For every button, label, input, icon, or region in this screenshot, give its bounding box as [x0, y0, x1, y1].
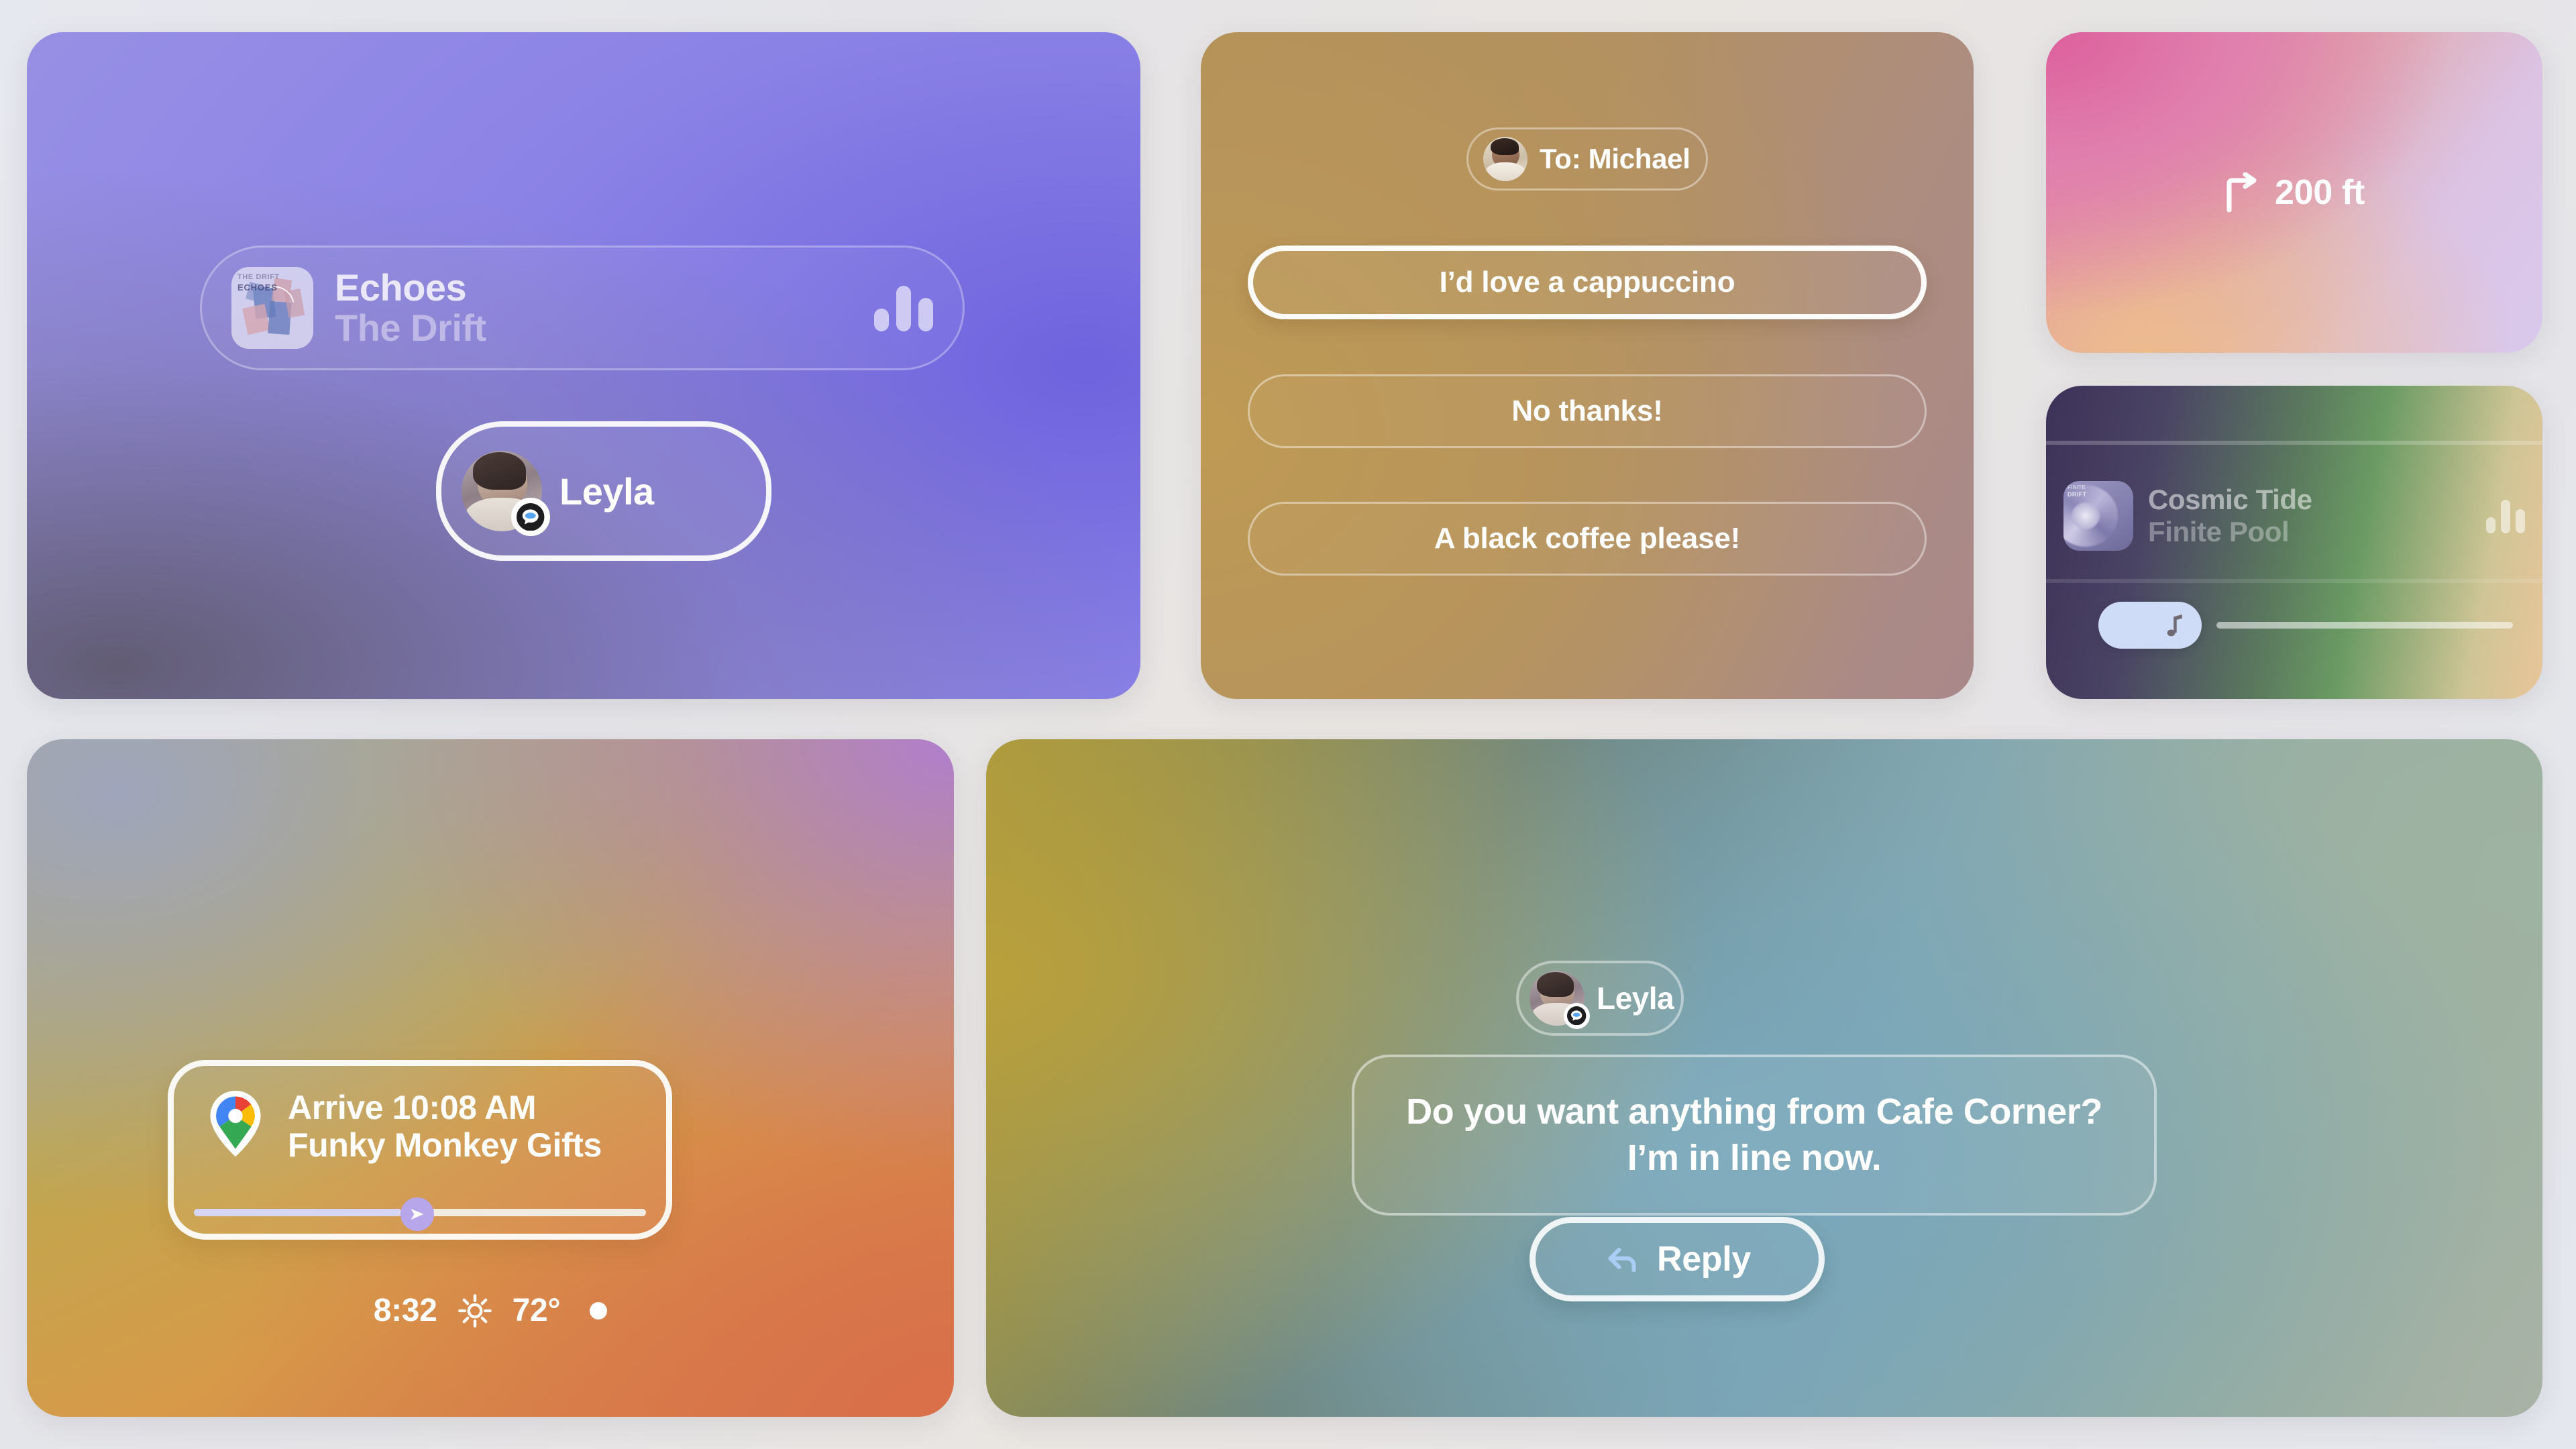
album-art-label: FINITE DRIFT: [2068, 484, 2087, 498]
avatar-michael: [1483, 137, 1527, 181]
album-art: THE DRIFT ECHOES: [231, 267, 313, 349]
track-title: Cosmic Tide: [2148, 484, 2486, 515]
card-maps-arrival[interactable]: Arrive 10:08 AM Funky Monkey Gifts 8:32: [27, 739, 954, 1417]
smart-reply-option-2-label: A black coffee please!: [1434, 522, 1740, 555]
reply-button[interactable]: Reply: [1529, 1217, 1825, 1301]
album-art-line2: ECHOES: [237, 282, 280, 293]
arrival-eta: Arrive 10:08 AM: [288, 1089, 602, 1126]
message-bubble[interactable]: Do you want anything from Cafe Corner? I…: [1352, 1055, 2157, 1216]
message-text: Do you want anything from Cafe Corner? I…: [1391, 1089, 2118, 1181]
messages-badge-icon: [511, 498, 550, 537]
reply-button-label: Reply: [1657, 1239, 1751, 1279]
smart-reply-option-2[interactable]: A black coffee please!: [1248, 502, 1927, 576]
recipient-pill[interactable]: To: Michael: [1466, 127, 1708, 191]
sun-icon: [458, 1293, 492, 1328]
card-smart-reply-surface: To: Michael I’d love a cappuccino No tha…: [1201, 32, 1974, 699]
equalizer-icon: [874, 284, 933, 331]
playback-progress-bar[interactable]: [2216, 622, 2513, 629]
messages-badge-icon: [1564, 1003, 1590, 1029]
contact-name: Leyla: [559, 470, 654, 513]
transport-row: [2098, 602, 2513, 649]
track-artist: Finite Pool: [2148, 516, 2486, 547]
track-meta: Echoes The Drift: [335, 268, 861, 349]
album-art-line1: THE DRIFT: [237, 273, 280, 282]
music-pill[interactable]: [2098, 602, 2202, 649]
album-art-line1: FINITE: [2068, 484, 2087, 491]
google-maps-pin-icon: [201, 1089, 270, 1159]
track-title: Echoes: [335, 268, 861, 307]
arrival-header: Arrive 10:08 AM Funky Monkey Gifts: [201, 1089, 639, 1165]
sheen-line-top: [2046, 441, 2542, 445]
smart-reply-option-0-label: I’d love a cappuccino: [1440, 266, 1735, 299]
smart-reply-option-1[interactable]: No thanks!: [1248, 374, 1927, 448]
card-message-surface: Leyla Do you want anything from Cafe Cor…: [986, 739, 2542, 1417]
route-progress-remaining: [425, 1209, 646, 1216]
card-music-cosmic[interactable]: FINITE DRIFT Cosmic Tide Finite Pool: [2046, 386, 2542, 699]
turn-instruction: 200 ft: [2046, 32, 2542, 353]
card-smart-reply[interactable]: To: Michael I’d love a cappuccino No tha…: [1201, 32, 1974, 699]
contact-pill-leyla[interactable]: Leyla: [1516, 961, 1684, 1036]
equalizer-icon: [2486, 498, 2525, 533]
recipient-label: To: Michael: [1540, 143, 1690, 175]
card-nav-turn-surface: 200 ft: [2046, 32, 2542, 353]
now-playing-row[interactable]: FINITE DRIFT Cosmic Tide Finite Pool: [2046, 481, 2542, 551]
temperature-label: 72°: [513, 1292, 561, 1329]
clock-label: 8:32: [374, 1292, 437, 1329]
smart-reply-option-1-label: No thanks!: [1511, 394, 1662, 428]
turn-distance: 200 ft: [2275, 172, 2365, 213]
card-music-echoes-surface: THE DRIFT ECHOES Echoes The Drift: [27, 32, 1140, 699]
now-playing-pill[interactable]: THE DRIFT ECHOES Echoes The Drift: [200, 246, 965, 370]
card-music-cosmic-surface: FINITE DRIFT Cosmic Tide Finite Pool: [2046, 386, 2542, 699]
arrival-text: Arrive 10:08 AM Funky Monkey Gifts: [288, 1089, 602, 1165]
music-note-icon: [2164, 611, 2187, 639]
contact-pill-leyla[interactable]: Leyla: [436, 421, 771, 561]
card-maps-surface: Arrive 10:08 AM Funky Monkey Gifts 8:32: [27, 739, 954, 1417]
widget-board: THE DRIFT ECHOES Echoes The Drift: [0, 0, 2576, 1449]
avatar: [462, 451, 542, 531]
album-art-line2: DRIFT: [2068, 491, 2087, 498]
track-meta: Cosmic Tide Finite Pool: [2148, 484, 2486, 547]
route-progress-fill: [194, 1209, 402, 1216]
album-art: FINITE DRIFT: [2063, 481, 2133, 551]
arrival-destination: Funky Monkey Gifts: [288, 1126, 602, 1165]
arrival-pill[interactable]: Arrive 10:08 AM Funky Monkey Gifts: [168, 1060, 672, 1240]
turn-right-icon: [2224, 172, 2260, 213]
card-message[interactable]: Leyla Do you want anything from Cafe Cor…: [986, 739, 2542, 1417]
album-art-label: THE DRIFT ECHOES: [237, 273, 280, 293]
route-progress-thumb[interactable]: [400, 1197, 434, 1231]
navigation-arrow-icon: [408, 1205, 427, 1224]
card-nav-turn[interactable]: 200 ft: [2046, 32, 2542, 353]
smart-reply-option-0[interactable]: I’d love a cappuccino: [1248, 246, 1927, 319]
contact-name: Leyla: [1597, 980, 1674, 1016]
track-artist: The Drift: [335, 307, 861, 349]
sheen-line-bottom: [2046, 579, 2542, 583]
status-row: 8:32 72°: [27, 1292, 954, 1329]
card-music-echoes[interactable]: THE DRIFT ECHOES Echoes The Drift: [27, 32, 1140, 699]
avatar: [1529, 971, 1585, 1026]
reply-arrow-icon: [1603, 1240, 1641, 1278]
route-progress-slider[interactable]: [194, 1197, 646, 1227]
status-dot-icon: [590, 1302, 607, 1320]
